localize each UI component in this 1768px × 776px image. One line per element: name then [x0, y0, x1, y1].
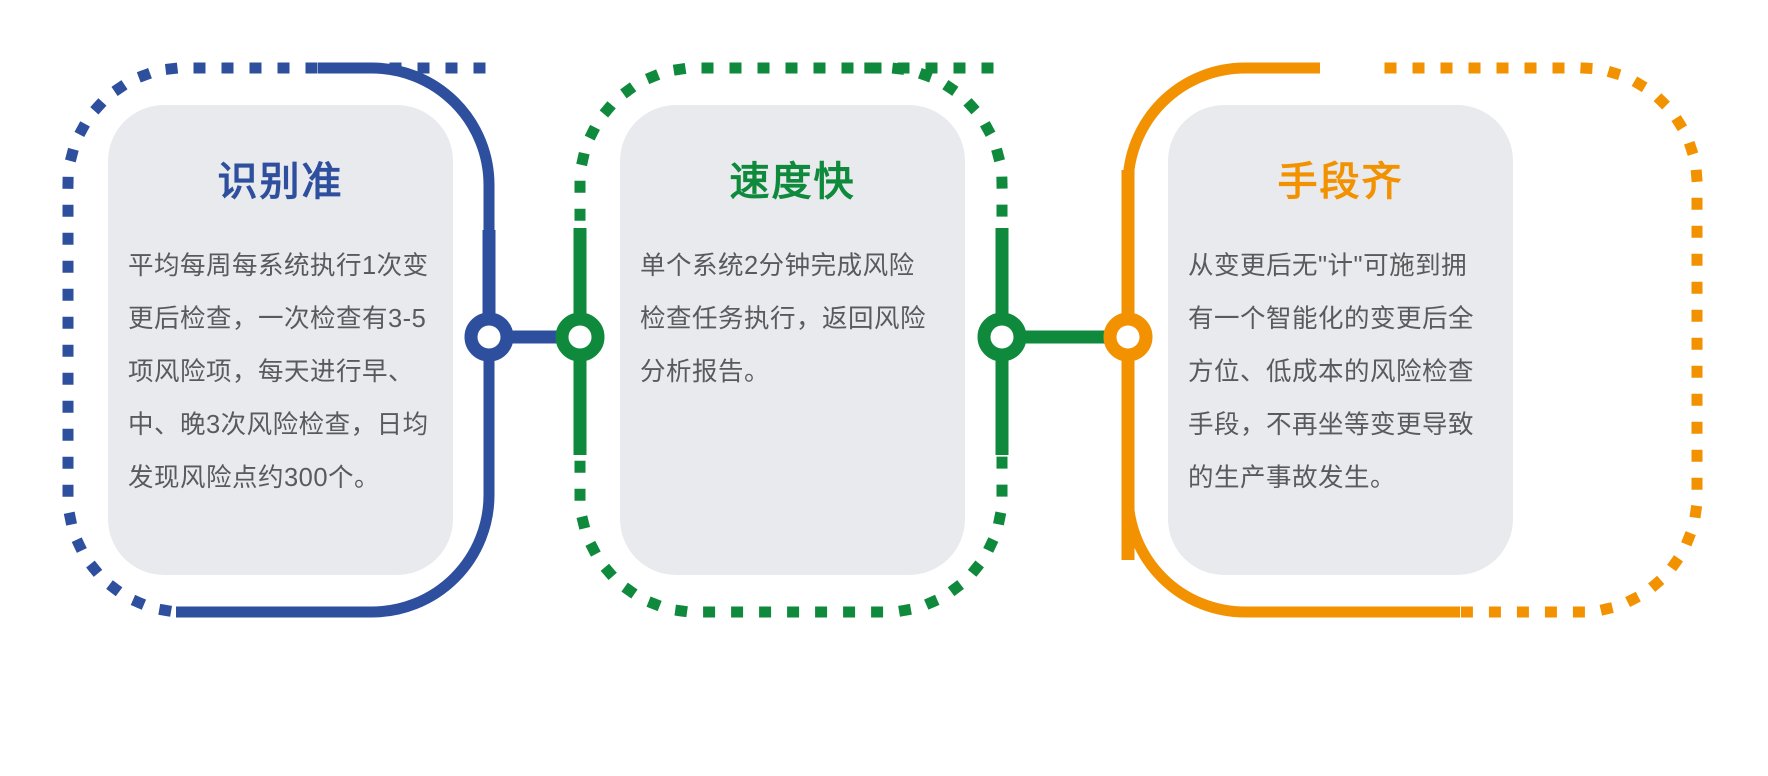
card-1-body: 平均每周每系统执行1次变 更后检查，一次检查有3-5 项风险项，每天进行早、 中… [108, 240, 453, 505]
card-2-body: 单个系统2分钟完成风险 检查任务执行，返回风险 分析报告。 [620, 240, 965, 399]
card-2-body-line: 检查任务执行，返回风险 [640, 293, 945, 346]
card-3-title: 手段齐 [1168, 160, 1513, 204]
card-2-title: 速度快 [620, 160, 965, 204]
card-3-body-line: 方位、低成本的风险检查 [1188, 346, 1493, 399]
card-3-body-line: 从变更后无"计"可施到拥 [1188, 240, 1493, 293]
card-3-body-line: 手段，不再坐等变更导致 [1188, 399, 1493, 452]
card-1-body-line: 更后检查，一次检查有3-5 [128, 293, 433, 346]
card-1-title: 识别准 [108, 160, 453, 204]
card-1-body-line: 项风险项，每天进行早、 [128, 346, 433, 399]
connector-2-left [562, 228, 598, 455]
card-1-body-line: 中、晚3次风险检查，日均 [128, 399, 433, 452]
card-1-body-line: 发现风险点约300个。 [128, 452, 433, 505]
connector-1-node-icon [471, 319, 507, 355]
card-3-body: 从变更后无"计"可施到拥 有一个智能化的变更后全 方位、低成本的风险检查 手段，… [1168, 240, 1513, 505]
card-1-body-line: 平均每周每系统执行1次变 [128, 240, 433, 293]
diagram-canvas: 识别准 平均每周每系统执行1次变 更后检查，一次检查有3-5 项风险项，每天进行… [0, 0, 1768, 776]
card-3-text-block: 手段齐 从变更后无"计"可施到拥 有一个智能化的变更后全 方位、低成本的风险检查… [1168, 160, 1513, 505]
card-2-body-line: 单个系统2分钟完成风险 [640, 240, 945, 293]
card-2-text-block: 速度快 单个系统2分钟完成风险 检查任务执行，返回风险 分析报告。 [620, 160, 965, 399]
card-2-body-line: 分析报告。 [640, 346, 945, 399]
connector-3-node-icon [984, 319, 1020, 355]
card-1-text-block: 识别准 平均每周每系统执行1次变 更后检查，一次检查有3-5 项风险项，每天进行… [108, 160, 453, 505]
card-3-body-line: 的生产事故发生。 [1188, 452, 1493, 505]
card-3-body-line: 有一个智能化的变更后全 [1188, 293, 1493, 346]
connector-2-node-icon [562, 319, 598, 355]
connector-3-left [1110, 170, 1146, 560]
connector-4-node-icon [1110, 319, 1146, 355]
